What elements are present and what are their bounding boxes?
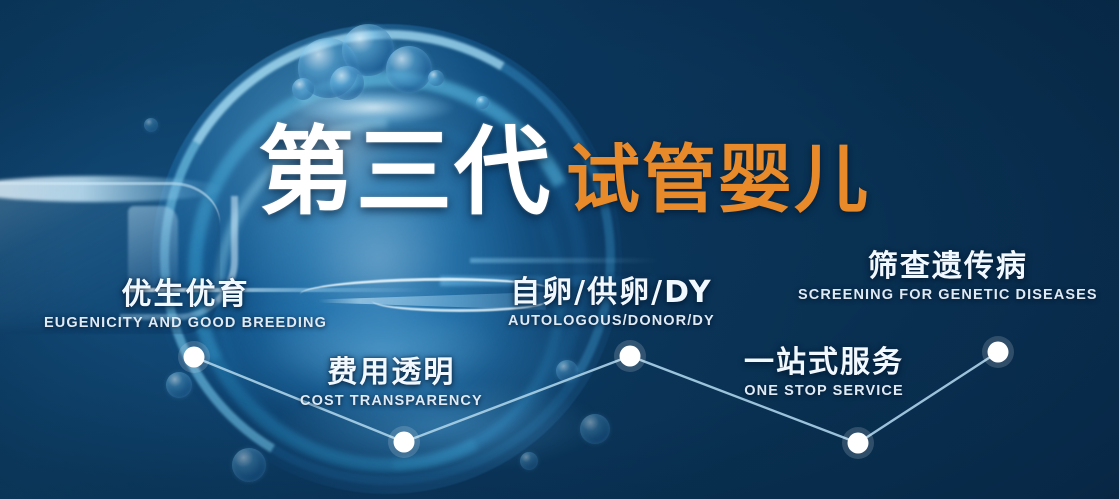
feature-label-en: COST TRANSPARENCY bbox=[300, 393, 483, 409]
connector-dot-3[interactable] bbox=[620, 346, 641, 367]
feature-item-eugenics[interactable]: 优生优育 EUGENICITY AND GOOD BREEDING bbox=[44, 278, 327, 331]
connector-dot-4[interactable] bbox=[848, 433, 869, 454]
title-main-text: 第三代 bbox=[258, 124, 552, 220]
connector-dot-5[interactable] bbox=[988, 342, 1009, 363]
page-title: 第三代 试管婴儿 bbox=[258, 124, 870, 220]
feature-label-en: SCREENING FOR GENETIC DISEASES bbox=[798, 287, 1098, 303]
feature-label-en: AUTOLOGOUS/DONOR/DY bbox=[508, 313, 715, 329]
feature-label-cn: 费用透明 bbox=[300, 356, 483, 390]
feature-label-cn: 筛查遗传病 bbox=[798, 250, 1098, 284]
title-accent-text: 试管婴儿 bbox=[566, 143, 870, 217]
feature-label-en: EUGENICITY AND GOOD BREEDING bbox=[44, 315, 327, 331]
feature-item-egg-source[interactable]: 自卵/供卵/DY AUTOLOGOUS/DONOR/DY bbox=[508, 276, 715, 329]
feature-label-cn: 优生优育 bbox=[44, 278, 327, 312]
feature-item-cost-transparency[interactable]: 费用透明 COST TRANSPARENCY bbox=[300, 356, 483, 409]
feature-item-one-stop-service[interactable]: 一站式服务 ONE STOP SERVICE bbox=[744, 346, 904, 399]
connector-dot-1[interactable] bbox=[184, 347, 205, 368]
feature-label-cn: 一站式服务 bbox=[744, 346, 904, 380]
feature-label-en: ONE STOP SERVICE bbox=[744, 383, 904, 399]
feature-label-cn: 自卵/供卵/DY bbox=[508, 276, 715, 310]
ivf-promo-banner: 第三代 试管婴儿 优生优育 EUGENICITY AND GOOD BREEDI… bbox=[0, 0, 1119, 499]
feature-item-genetic-screening[interactable]: 筛查遗传病 SCREENING FOR GENETIC DISEASES bbox=[798, 250, 1098, 303]
connector-dot-2[interactable] bbox=[394, 432, 415, 453]
